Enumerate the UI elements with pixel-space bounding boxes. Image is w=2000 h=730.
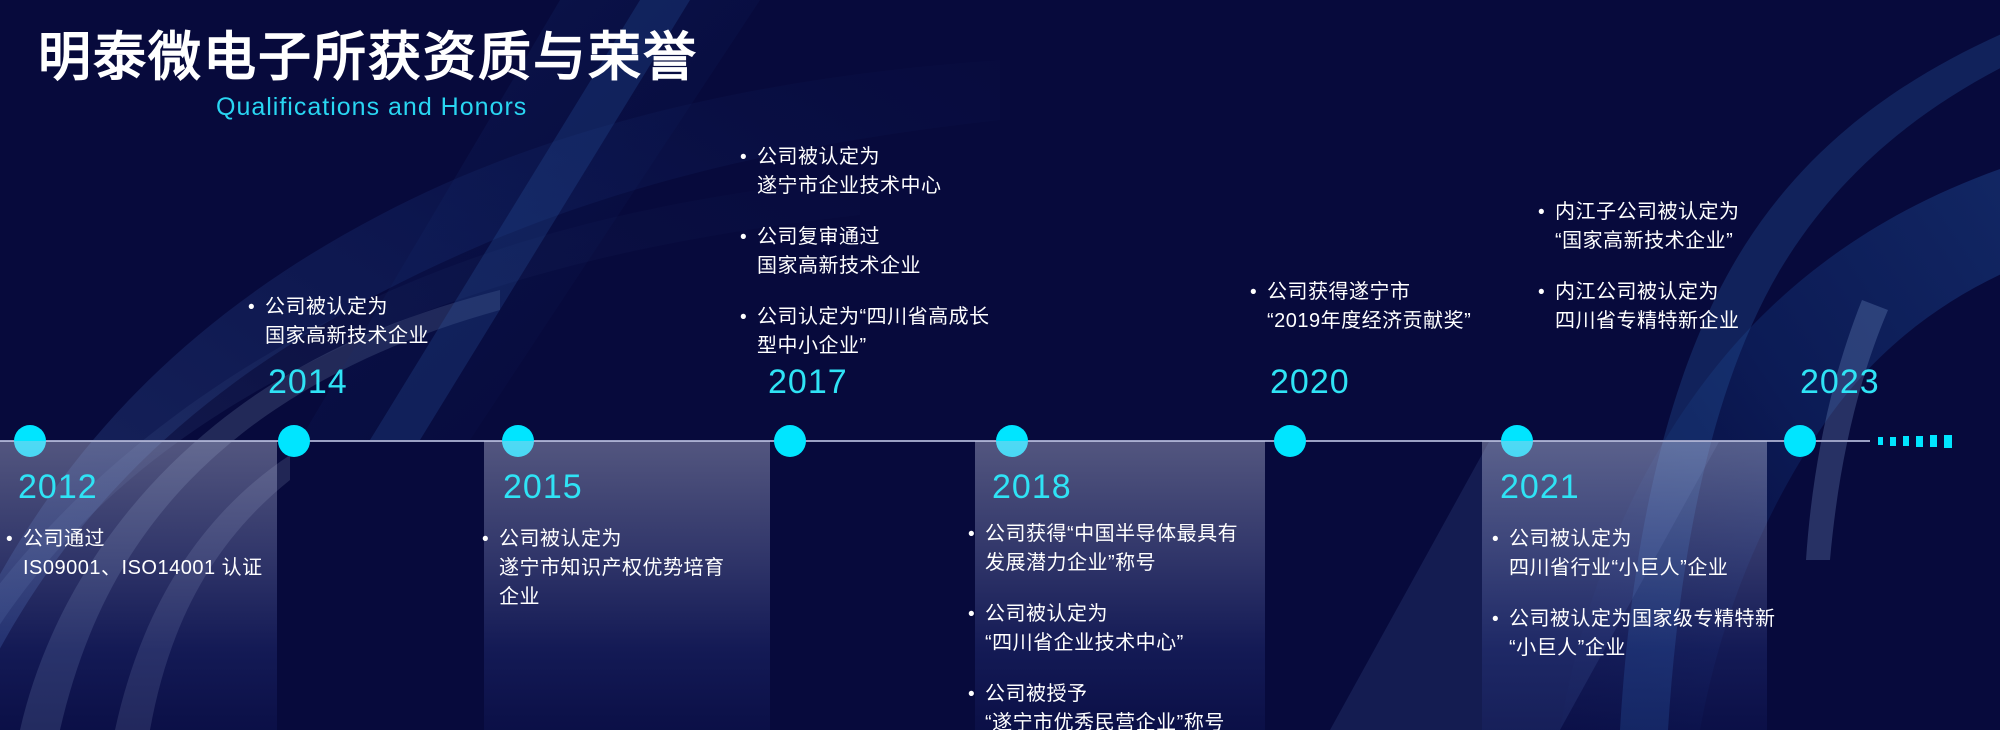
event-line-2: “四川省企业技术中心”	[985, 629, 1184, 658]
event-item: • 内江公司被认定为 四川省专精特新企业	[1538, 278, 1878, 336]
event-line-1: 公司被认定为	[757, 146, 880, 168]
event-item: • 公司被认定为国家级专精特新 “小巨人”企业	[1492, 605, 1832, 663]
bullet-icon: •	[1538, 278, 1555, 336]
event-line-2: 发展潜力企业”称号	[985, 549, 1238, 578]
events-2018: • 公司获得“中国半导体最具有 发展潜力企业”称号 • 公司被认定为 “四川省企…	[968, 520, 1298, 730]
bullet-icon: •	[1492, 525, 1509, 583]
page-subtitle: Qualifications and Honors	[216, 93, 698, 122]
timeline-dot-2017[interactable]	[774, 425, 806, 457]
event-line-1: 内江公司被认定为	[1555, 281, 1719, 303]
event-line-1: 公司通过	[23, 528, 105, 550]
event-line-1: 公司被认定为	[985, 603, 1108, 625]
event-item: • 公司通过 IS09001、ISO14001 认证	[6, 525, 306, 583]
year-label-2021: 2021	[1500, 468, 1580, 507]
infographic-stage: 明泰微电子所获资质与荣誉 Qualifications and Honors 2…	[0, 0, 2000, 730]
year-label-2020: 2020	[1270, 363, 1350, 402]
header: 明泰微电子所获资质与荣誉 Qualifications and Honors	[38, 28, 698, 122]
event-line-2: 国家高新技术企业	[757, 252, 921, 281]
bullet-icon: •	[740, 223, 757, 281]
event-item: • 公司被授予 “遂宁市优秀民营企业”称号	[968, 680, 1298, 730]
bullet-icon: •	[968, 520, 985, 578]
event-line-1: 内江子公司被认定为	[1555, 201, 1740, 223]
events-2023: • 内江子公司被认定为 “国家高新技术企业” • 内江公司被认定为 四川省专精特…	[1538, 198, 1878, 336]
event-line-2: 遂宁市知识产权优势培育企业	[499, 554, 737, 612]
event-item: • 公司复审通过 国家高新技术企业	[740, 223, 1100, 281]
bullet-icon: •	[968, 680, 985, 730]
bullet-icon: •	[1538, 198, 1555, 256]
timeline-dot-2020[interactable]	[1274, 425, 1306, 457]
bullet-icon: •	[482, 525, 499, 612]
event-line-1: 公司获得“中国半导体最具有	[985, 523, 1238, 545]
event-line-2: “2019年度经济贡献奖”	[1267, 307, 1471, 336]
event-item: • 公司认定为“四川省高成长 型中小企业”	[740, 303, 1100, 361]
event-line-1: 公司认定为“四川省高成长	[757, 306, 990, 328]
events-2020: • 公司获得遂宁市 “2019年度经济贡献奖”	[1250, 278, 1580, 336]
event-line-2: 四川省行业“小巨人”企业	[1509, 554, 1728, 583]
bullet-icon: •	[968, 600, 985, 658]
event-item: • 公司获得“中国半导体最具有 发展潜力企业”称号	[968, 520, 1298, 578]
event-line-1: 公司被认定为	[499, 528, 622, 550]
events-2021: • 公司被认定为 四川省行业“小巨人”企业 • 公司被认定为国家级专精特新 “小…	[1492, 525, 1832, 663]
event-item: • 公司被认定为 遂宁市知识产权优势培育企业	[482, 525, 782, 612]
event-line-2: 四川省专精特新企业	[1555, 307, 1740, 336]
event-line-1: 公司被认定为国家级专精特新	[1509, 608, 1776, 630]
year-label-2012: 2012	[18, 468, 98, 507]
timeline-dot-2014[interactable]	[278, 425, 310, 457]
event-line-2: “国家高新技术企业”	[1555, 227, 1740, 256]
event-item: • 公司被认定为 “四川省企业技术中心”	[968, 600, 1298, 658]
year-label-2018: 2018	[992, 468, 1072, 507]
year-label-2017: 2017	[768, 363, 848, 402]
bullet-icon: •	[740, 143, 757, 201]
timeline-dot-2023[interactable]	[1784, 425, 1816, 457]
event-line-2: IS09001、ISO14001 认证	[23, 554, 263, 583]
event-line-1: 公司被授予	[985, 683, 1088, 705]
bullet-icon: •	[6, 525, 23, 583]
bullet-icon: •	[740, 303, 757, 361]
event-item: • 公司被认定为 四川省行业“小巨人”企业	[1492, 525, 1832, 583]
bullet-icon: •	[1492, 605, 1509, 663]
year-label-2015: 2015	[503, 468, 583, 507]
bullet-icon: •	[248, 293, 265, 351]
events-2014: • 公司被认定为 国家高新技术企业	[248, 293, 568, 351]
event-item: • 内江子公司被认定为 “国家高新技术企业”	[1538, 198, 1878, 256]
bullet-icon: •	[1250, 278, 1267, 336]
event-line-2: 型中小企业”	[757, 332, 990, 361]
event-line-2: 遂宁市企业技术中心	[757, 172, 942, 201]
event-line-2: “小巨人”企业	[1509, 634, 1776, 663]
timeline-axis-end-dashes	[1878, 435, 1952, 447]
event-item: • 公司获得遂宁市 “2019年度经济贡献奖”	[1250, 278, 1580, 336]
year-label-2023: 2023	[1800, 363, 1880, 402]
events-2015: • 公司被认定为 遂宁市知识产权优势培育企业	[482, 525, 782, 612]
event-line-2: 国家高新技术企业	[265, 322, 429, 351]
event-line-1: 公司获得遂宁市	[1267, 281, 1411, 303]
event-line-1: 公司被认定为	[265, 296, 388, 318]
year-label-2014: 2014	[268, 363, 348, 402]
event-line-1: 公司复审通过	[757, 226, 880, 248]
event-line-1: 公司被认定为	[1509, 528, 1632, 550]
event-line-2: “遂宁市优秀民营企业”称号	[985, 709, 1225, 730]
events-2012: • 公司通过 IS09001、ISO14001 认证	[6, 525, 306, 583]
event-item: • 公司被认定为 国家高新技术企业	[248, 293, 568, 351]
events-2017: • 公司被认定为 遂宁市企业技术中心 • 公司复审通过 国家高新技术企业 • 公…	[740, 143, 1100, 361]
event-item: • 公司被认定为 遂宁市企业技术中心	[740, 143, 1100, 201]
page-title: 明泰微电子所获资质与荣誉	[38, 28, 698, 87]
